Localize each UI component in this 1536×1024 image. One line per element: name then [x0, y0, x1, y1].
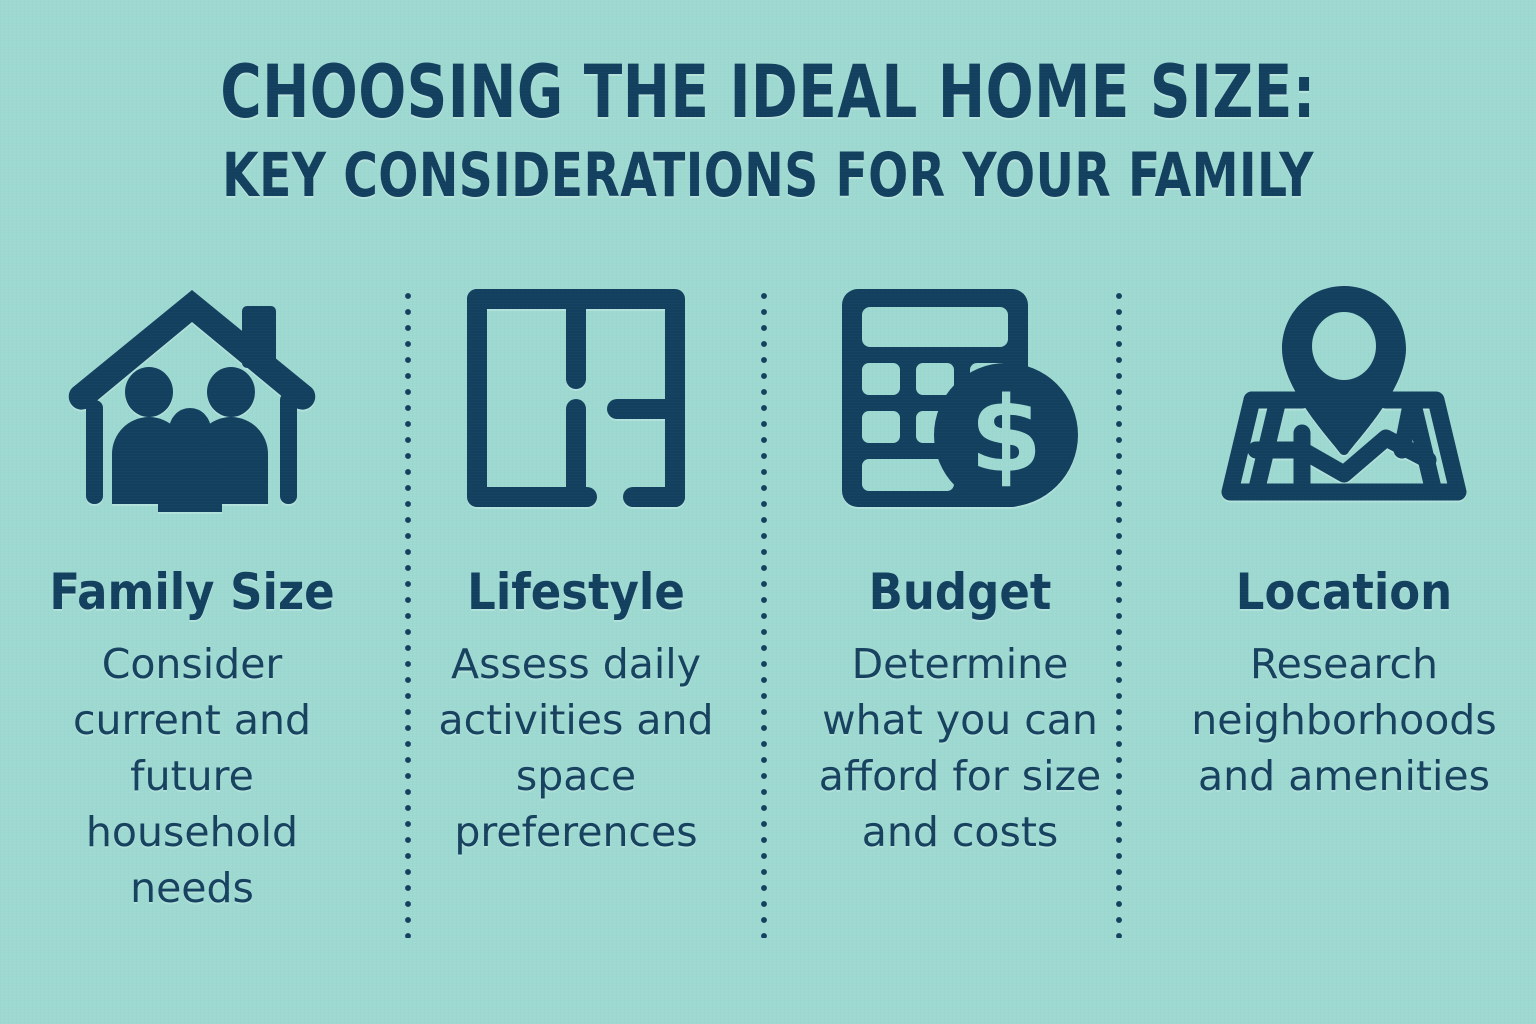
title-line-2: KEY CONSIDERATIONS FOR YOUR FAMILY: [108, 140, 1429, 212]
infographic-root: CHOOSING THE IDEAL HOME SIZE: KEY CONSID…: [0, 0, 1536, 1024]
consideration-lifestyle: Lifestyle Assess daily activities and sp…: [384, 278, 768, 958]
consideration-columns: Family Size Consider current and future …: [0, 278, 1536, 958]
consideration-location: Location Research neighborhoods and amen…: [1152, 278, 1536, 958]
house-with-family-icon: [66, 278, 318, 518]
column-title: Location: [1236, 564, 1452, 620]
column-description: Consider current and future household ne…: [27, 636, 357, 916]
consideration-budget: $ Budget Determine what you can afford f…: [768, 278, 1152, 958]
page-title: CHOOSING THE IDEAL HOME SIZE: KEY CONSID…: [0, 52, 1536, 212]
svg-text:$: $: [970, 374, 1042, 496]
title-line-1: CHOOSING THE IDEAL HOME SIZE:: [108, 52, 1429, 134]
floor-plan-icon: [465, 278, 687, 518]
consideration-family-size: Family Size Consider current and future …: [0, 278, 384, 958]
column-title: Budget: [869, 564, 1052, 620]
map-with-location-pin-icon: [1216, 278, 1472, 518]
calculator-with-dollar-coin-icon: $: [838, 278, 1082, 518]
column-title: Lifestyle: [467, 564, 685, 620]
column-description: Determine what you can afford for size a…: [795, 636, 1125, 860]
column-description: Research neighborhoods and amenities: [1170, 636, 1518, 804]
column-description: Assess daily activities and space prefer…: [411, 636, 741, 860]
column-title: Family Size: [49, 564, 334, 620]
